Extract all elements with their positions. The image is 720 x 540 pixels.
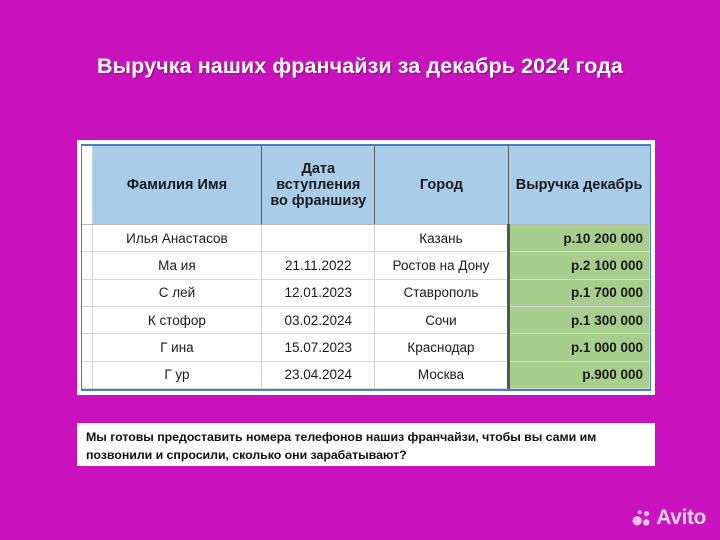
avito-watermark: Avito <box>632 506 706 530</box>
avito-watermark-label: Avito <box>656 506 706 530</box>
slide-canvas: Выручка наших франчайзи за декабрь 2024 … <box>0 0 720 540</box>
cell-name: Илья Анастасов <box>92 225 262 252</box>
cell-city: Сочи <box>375 306 508 333</box>
cell-city: Краснодар <box>375 334 508 361</box>
revenue-table-card: Фамилия Имя Дата вступления во франшизу … <box>77 140 655 395</box>
caption-box: Мы готовы предоставить номера телефонов … <box>77 423 655 466</box>
revenue-table: Фамилия Имя Дата вступления во франшизу … <box>82 146 650 389</box>
row-gutter <box>82 279 92 306</box>
cell-revenue: р.1 700 000 <box>508 279 649 306</box>
cell-city: Москва <box>375 361 508 388</box>
row-gutter <box>82 225 92 252</box>
cell-date: 21.11.2022 <box>262 252 375 279</box>
cell-date: 23.04.2024 <box>262 361 375 388</box>
table-row: С лей 12.01.2023 Ставрополь р.1 700 000 <box>82 279 650 306</box>
cell-name-redacted: Г ур <box>92 361 262 388</box>
cell-revenue: р.1 000 000 <box>508 334 649 361</box>
caption-text: Мы готовы предоставить номера телефонов … <box>86 429 646 464</box>
cell-date: 12.01.2023 <box>262 279 375 306</box>
cell-date: 15.07.2023 <box>262 334 375 361</box>
table-row: Илья Анастасов Казань р.10 200 000 <box>82 225 650 252</box>
table-row: Г ина 15.07.2023 Краснодар р.1 000 000 <box>82 334 650 361</box>
revenue-table-frame: Фамилия Имя Дата вступления во франшизу … <box>81 144 651 391</box>
row-gutter <box>82 306 92 333</box>
cell-revenue: р.900 000 <box>508 361 649 388</box>
cell-name-redacted: К стофор <box>92 306 262 333</box>
cell-city: Ставрополь <box>375 279 508 306</box>
column-header-city: Город <box>375 146 508 225</box>
table-row: Г ур 23.04.2024 Москва р.900 000 <box>82 361 650 388</box>
cell-city: Ростов на Дону <box>375 252 508 279</box>
table-header-row: Фамилия Имя Дата вступления во франшизу … <box>82 146 650 225</box>
table-row: К стофор 03.02.2024 Сочи р.1 300 000 <box>82 306 650 333</box>
cell-name-redacted: Г ина <box>92 334 262 361</box>
cell-name-redacted: С лей <box>92 279 262 306</box>
avito-dots-icon <box>632 508 652 528</box>
column-header-revenue: Выручка декабрь <box>508 146 649 225</box>
row-gutter <box>82 252 92 279</box>
table-row: Ма ия 21.11.2022 Ростов на Дону р.2 100 … <box>82 252 650 279</box>
cell-name-redacted: Ма ия <box>92 252 262 279</box>
page-title: Выручка наших франчайзи за декабрь 2024 … <box>0 54 720 79</box>
column-header-date: Дата вступления во франшизу <box>262 146 375 225</box>
cell-revenue: р.1 300 000 <box>508 306 649 333</box>
cell-date <box>262 225 375 252</box>
row-gutter <box>82 361 92 388</box>
cell-revenue: р.10 200 000 <box>508 225 649 252</box>
row-gutter <box>82 334 92 361</box>
cell-date: 03.02.2024 <box>262 306 375 333</box>
column-header-name: Фамилия Имя <box>92 146 262 225</box>
row-gutter-header <box>82 146 92 225</box>
cell-revenue: р.2 100 000 <box>508 252 649 279</box>
cell-city: Казань <box>375 225 508 252</box>
